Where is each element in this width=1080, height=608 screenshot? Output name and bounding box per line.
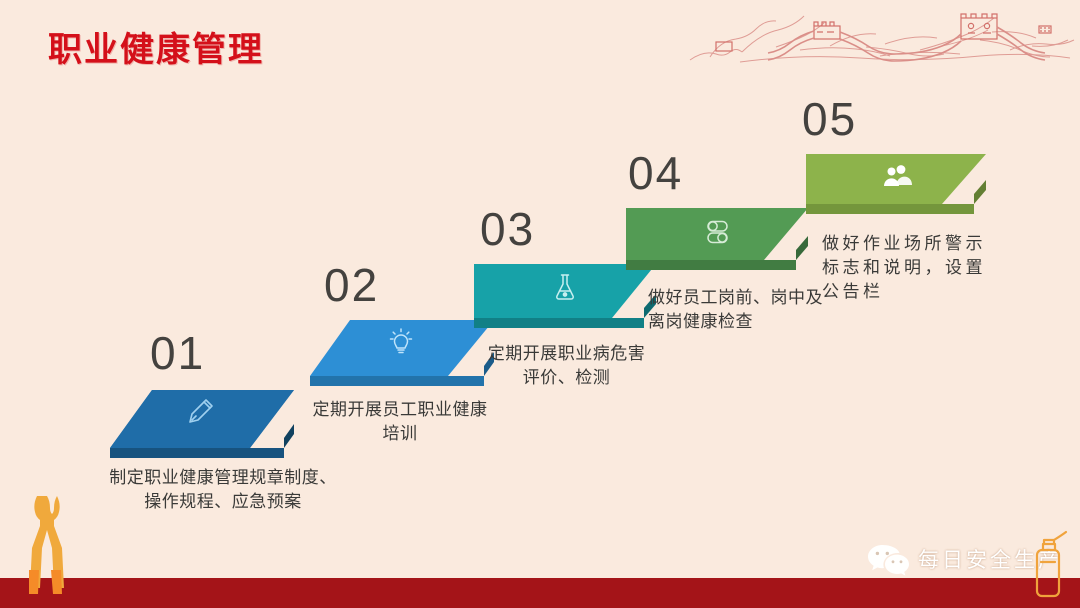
step-caption: 定期开展员工职业健康培训 [310,398,490,446]
step-slab [108,382,294,458]
step-slab [804,148,990,224]
great-wall-decoration-icon [680,2,1080,74]
page-title: 职业健康管理 [48,22,264,71]
step-caption: 制定职业健康管理规章制度、操作规程、应急预案 [108,466,338,514]
step-number: 05 [802,96,1022,142]
step-slab [624,202,810,278]
slide-canvas: 职业健康管理 [0,0,1080,608]
step-caption: 做好作业场所警示标志和说明，设置公告栏 [822,232,997,304]
fire-extinguisher-icon [1028,528,1070,602]
step-item-05[interactable]: 05 做好作业场所警示标志和说明，设置公告栏 [792,96,1022,304]
wechat-icon [866,542,910,576]
pliers-icon [16,490,74,600]
step-caption: 定期开展职业病危害评价、检测 [484,342,649,390]
footer-bar [0,578,1080,608]
